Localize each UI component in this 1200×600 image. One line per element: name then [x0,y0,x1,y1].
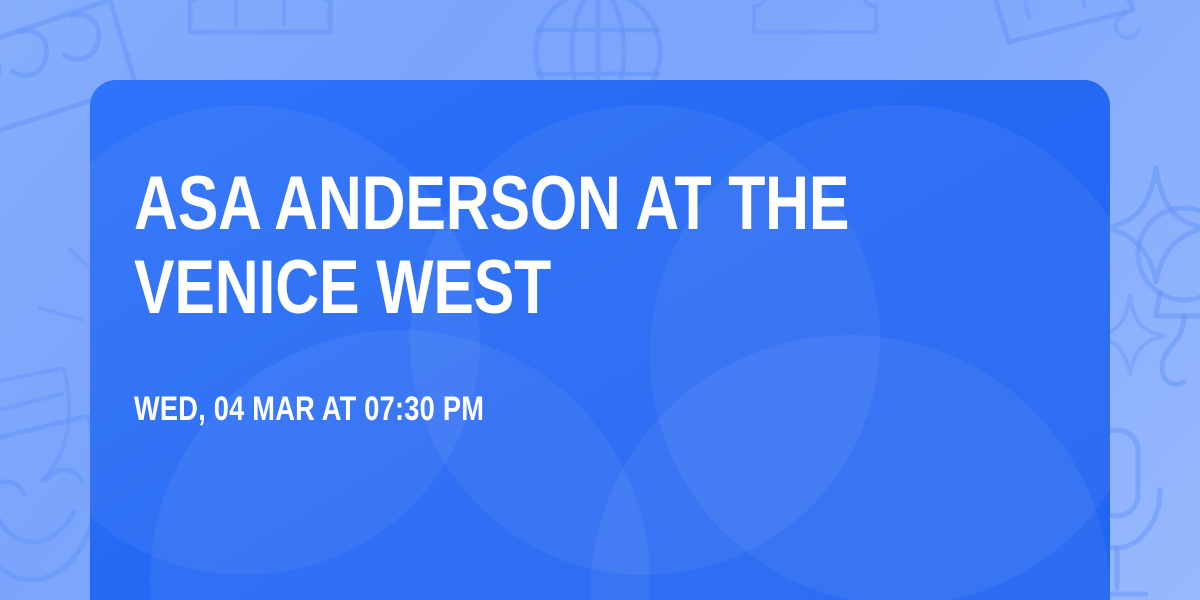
balloon-icon [1120,196,1200,396]
event-poster: Asa Anderson at the Venice West Wed, 04 … [0,0,1200,600]
theater-mask-icon [0,368,104,548]
ticket-stub-icon [180,0,350,82]
event-datetime: Wed, 04 Mar at 07:30 PM [134,391,1040,428]
ticket-stub-icon [740,0,890,80]
sparkle-icon [1100,160,1200,290]
event-card: Asa Anderson at the Venice West Wed, 04 … [90,80,1110,600]
card-content: Asa Anderson at the Venice West Wed, 04 … [90,80,1110,428]
event-title: Asa Anderson at the Venice West [134,162,1040,331]
ticket-icon [975,0,1165,88]
